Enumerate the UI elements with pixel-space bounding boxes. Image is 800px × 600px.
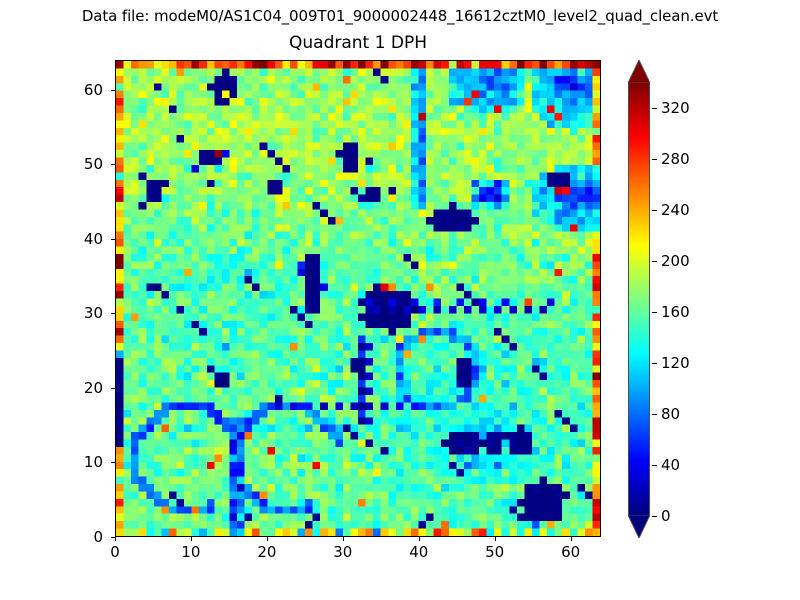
colorbar-tick-label: 240 [661,201,690,219]
y-tick-mark [111,313,115,314]
colorbar-tick-label: 280 [661,150,690,168]
x-tick-mark [571,537,572,541]
colorbar-tick-mark [652,108,657,109]
x-tick-mark [419,537,420,541]
y-tick-mark [111,537,115,538]
x-tick-label: 40 [389,543,449,561]
y-tick-label: 50 [43,155,103,173]
colorbar-gradient [628,82,650,516]
colorbar-over-arrow-icon [628,60,650,83]
x-tick-label: 50 [465,543,525,561]
dph-heatmap-axes[interactable] [115,60,601,537]
x-tick-label: 30 [313,543,373,561]
x-tick-mark [191,537,192,541]
y-tick-label: 0 [43,528,103,546]
colorbar-tick-mark [652,312,657,313]
colorbar-tick-mark [652,414,657,415]
colorbar-tick-mark [652,363,657,364]
colorbar-tick-label: 0 [661,507,671,525]
y-tick-label: 40 [43,230,103,248]
x-tick-label: 20 [237,543,297,561]
colorbar-tick-mark [652,261,657,262]
colorbar-tick-mark [652,159,657,160]
figure-canvas: Data file: modeM0/AS1C04_009T01_90000024… [0,0,800,600]
y-tick-label: 60 [43,81,103,99]
dph-heatmap-image [116,61,600,536]
x-tick-mark [343,537,344,541]
x-tick-label: 10 [161,543,221,561]
colorbar-tick-label: 200 [661,252,690,270]
page-title: Quadrant 1 DPH [115,32,601,54]
y-tick-mark [111,239,115,240]
colorbar-tick-label: 80 [661,405,680,423]
colorbar-tick-label: 160 [661,303,690,321]
x-tick-mark [115,537,116,541]
colorbar-tick-mark [652,465,657,466]
y-tick-mark [111,388,115,389]
colorbar[interactable] [626,60,656,538]
x-tick-mark [267,537,268,541]
colorbar-tick-mark [652,210,657,211]
y-tick-mark [111,462,115,463]
x-tick-mark [495,537,496,541]
y-tick-label: 10 [43,453,103,471]
y-tick-mark [111,90,115,91]
colorbar-under-arrow-icon [628,515,650,538]
y-tick-mark [111,164,115,165]
data-file-suptitle: Data file: modeM0/AS1C04_009T01_90000024… [0,6,800,26]
y-tick-label: 20 [43,379,103,397]
colorbar-tick-label: 40 [661,456,680,474]
x-tick-label: 60 [541,543,601,561]
colorbar-tick-label: 120 [661,354,690,372]
y-tick-label: 30 [43,304,103,322]
colorbar-tick-mark [652,516,657,517]
colorbar-tick-label: 320 [661,99,690,117]
